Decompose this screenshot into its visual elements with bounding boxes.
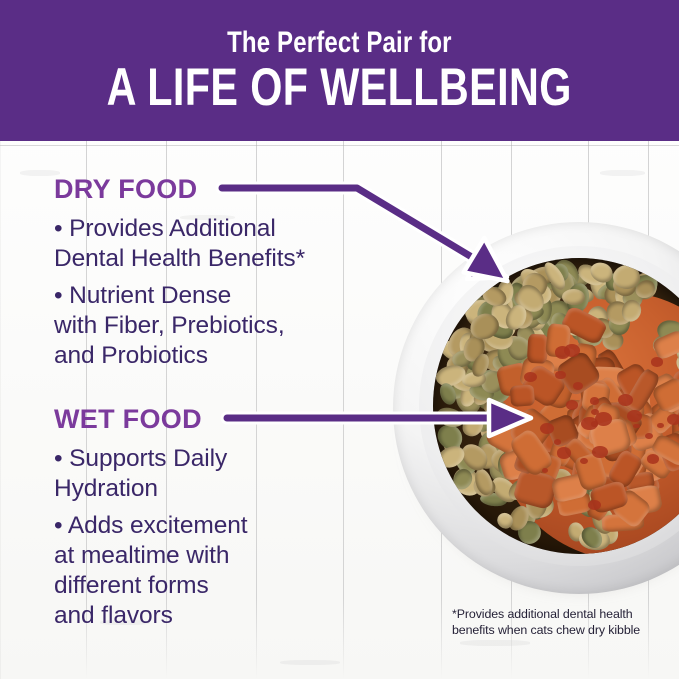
gravy-spot: [557, 447, 571, 458]
banner-subtitle: The Perfect Pair for: [227, 27, 452, 59]
bullet-line: different forms: [54, 571, 384, 601]
bullet-line: Hydration: [54, 474, 384, 504]
wood-grain: [280, 660, 340, 665]
gravy-spot: [595, 412, 612, 426]
infographic-canvas: The Perfect Pair for A LIFE OF WELLBEING…: [0, 0, 679, 679]
bullet-wet-1: • Supports Daily Hydration: [54, 444, 384, 504]
footnote-line: benefits when cats chew dry kibble: [452, 623, 667, 639]
plank-seam-horizontal: [0, 145, 679, 146]
gravy-spot: [590, 397, 599, 404]
gravy-spot: [633, 424, 639, 429]
bullet-dry-2: • Nutrient Dense with Fiber, Prebiotics,…: [54, 281, 384, 371]
wood-grain: [460, 640, 530, 646]
gravy-spot: [667, 414, 679, 425]
gravy-spot: [647, 454, 659, 463]
bullet-dry-1: • Provides Additional Dental Health Bene…: [54, 214, 384, 274]
gravy-spot: [555, 346, 571, 358]
bullet-line: • Supports Daily: [54, 444, 384, 474]
gravy-spot: [588, 500, 601, 510]
banner-title: A LIFE OF WELLBEING: [107, 61, 572, 114]
bullet-line: • Nutrient Dense: [54, 281, 384, 311]
bullet-line: with Fiber, Prebiotics,: [54, 311, 384, 341]
section-title-dry-food: DRY FOOD: [54, 174, 197, 205]
bullet-line: Dental Health Benefits*: [54, 244, 384, 274]
section-title-wet-food: WET FOOD: [54, 404, 202, 435]
header-banner: The Perfect Pair for A LIFE OF WELLBEING: [0, 0, 679, 141]
footnote-line: *Provides additional dental health: [452, 607, 667, 623]
gravy-spot: [627, 410, 642, 422]
cat-food-bowl-photo: [393, 222, 679, 594]
wet-food-chunk: [510, 384, 535, 407]
bullet-line: • Provides Additional: [54, 214, 384, 244]
bullet-line: and flavors: [54, 601, 384, 631]
bullet-line: at mealtime with: [54, 541, 384, 571]
footnote: *Provides additional dental health benef…: [452, 607, 667, 638]
wood-grain: [600, 170, 645, 176]
bullet-line: • Adds excitement: [54, 511, 384, 541]
bullet-line: and Probiotics: [54, 341, 384, 371]
gravy-spot: [651, 357, 663, 366]
bullet-wet-2: • Adds excitement at mealtime with diffe…: [54, 511, 384, 631]
gravy-spot: [540, 423, 554, 434]
gravy-spot: [555, 371, 566, 379]
